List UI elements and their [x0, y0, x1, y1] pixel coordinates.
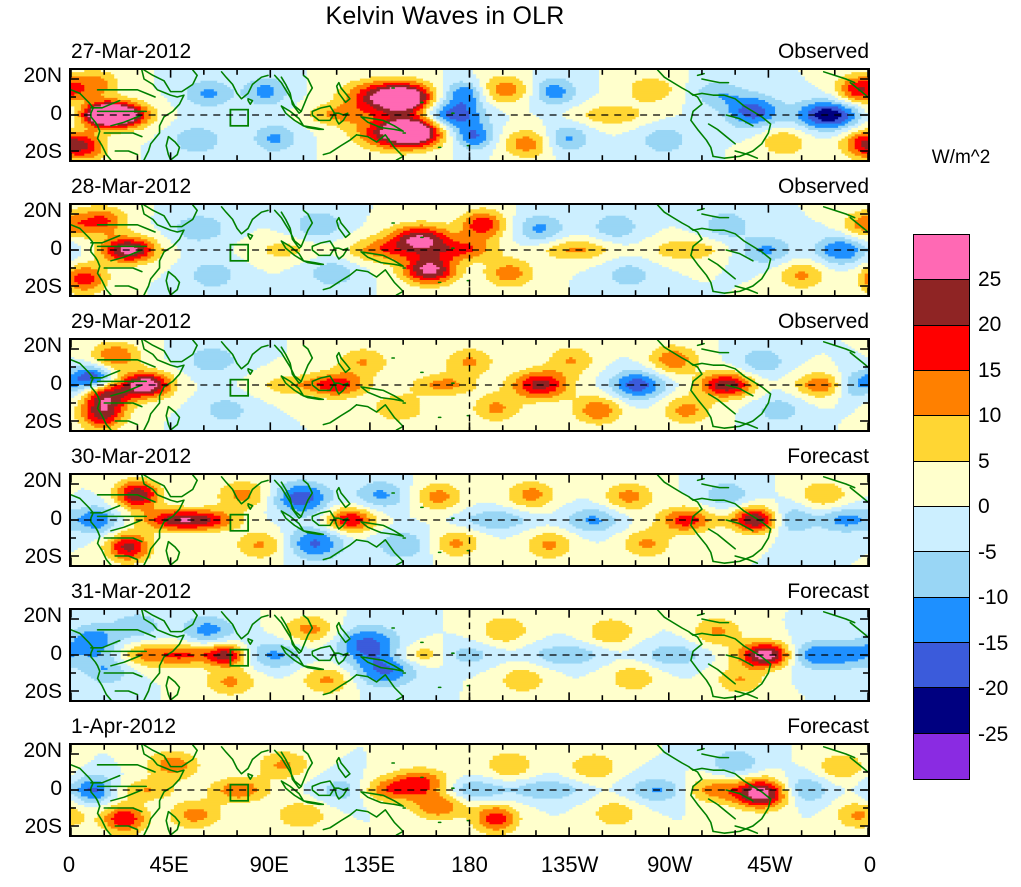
colorbar-band: [914, 507, 969, 552]
y-axis-tick-label: 0: [2, 507, 62, 531]
colorbar-band: [914, 371, 969, 416]
colorbar-tick-label: -5: [978, 541, 997, 565]
panel-date-label: 1-Apr-2012: [71, 715, 176, 739]
colorbar-tick-label: 25: [978, 268, 1001, 292]
colorbar-tick-label: -25: [978, 723, 1008, 747]
panel-plot-area: [69, 203, 870, 297]
colorbar-tick-label: -20: [978, 677, 1008, 701]
colorbar-tick-label: 20: [978, 313, 1001, 337]
x-axis-labels: 045E90E135E180135W90W45W0: [69, 852, 870, 882]
olr-contour-field: [71, 70, 868, 160]
olr-contour-field: [71, 610, 868, 700]
y-axis-tick-label: 20S: [2, 410, 62, 434]
colorbar-tick-label: -10: [978, 586, 1008, 610]
y-axis-tick-label: 0: [2, 777, 62, 801]
colorbar-band: [914, 280, 969, 325]
panel-date-label: 29-Mar-2012: [71, 310, 191, 334]
y-axis-tick-label: 20N: [2, 199, 62, 223]
x-axis-tick-label: 135E: [344, 852, 395, 878]
y-axis-tick-label: 20S: [2, 815, 62, 839]
colorbar-band: [914, 326, 969, 371]
x-axis-tick-label: 45W: [747, 852, 792, 878]
colorbar-band: [914, 734, 969, 779]
colorbar-band: [914, 688, 969, 733]
colorbar-band: [914, 552, 969, 597]
olr-contour-field: [71, 745, 868, 835]
x-axis-tick-label: 0: [63, 852, 75, 878]
page-title: Kelvin Waves in OLR: [0, 2, 890, 31]
panel-kind-label: Observed: [778, 175, 869, 199]
colorbar-tick-label: 15: [978, 359, 1001, 383]
y-axis-tick-label: 0: [2, 102, 62, 126]
y-axis-tick-label: 20N: [2, 469, 62, 493]
y-axis-tick-label: 20N: [2, 604, 62, 628]
x-axis-tick-label: 0: [864, 852, 876, 878]
y-axis-tick-label: 20N: [2, 334, 62, 358]
colorbar-tick-label: -15: [978, 632, 1008, 656]
panel-plot-area: [69, 608, 870, 702]
y-axis-tick-label: 0: [2, 642, 62, 666]
y-axis-tick-label: 20S: [2, 680, 62, 704]
colorbar-band: [914, 462, 969, 507]
y-axis-tick-label: 20N: [2, 64, 62, 88]
colorbar: [913, 234, 970, 780]
colorbar-band: [914, 598, 969, 643]
panel-kind-label: Forecast: [787, 445, 869, 469]
panel-kind-label: Observed: [778, 310, 869, 334]
panel-date-label: 30-Mar-2012: [71, 445, 191, 469]
colorbar-band: [914, 416, 969, 461]
panel-plot-area: [69, 68, 870, 162]
x-axis-tick-label: 180: [451, 852, 488, 878]
colorbar-units: W/m^2: [905, 147, 1017, 169]
x-axis-tick-label: 90E: [250, 852, 289, 878]
colorbar-tick-label: 0: [978, 495, 990, 519]
panel-date-label: 27-Mar-2012: [71, 40, 191, 64]
y-axis-tick-label: 20N: [2, 739, 62, 763]
colorbar-band: [914, 643, 969, 688]
panel-plot-area: [69, 338, 870, 432]
olr-contour-field: [71, 340, 868, 430]
panel-kind-label: Observed: [778, 40, 869, 64]
x-axis-tick-label: 45E: [150, 852, 189, 878]
colorbar-band: [914, 235, 969, 280]
x-axis-tick-label: 135W: [541, 852, 598, 878]
panel-kind-label: Forecast: [787, 580, 869, 604]
colorbar-tick-label: 5: [978, 450, 990, 474]
panel-date-label: 28-Mar-2012: [71, 175, 191, 199]
panel-kind-label: Forecast: [787, 715, 869, 739]
y-axis-tick-label: 0: [2, 237, 62, 261]
olr-contour-field: [71, 205, 868, 295]
panel-date-label: 31-Mar-2012: [71, 580, 191, 604]
y-axis-tick-label: 20S: [2, 275, 62, 299]
panel-plot-area: [69, 743, 870, 837]
olr-contour-field: [71, 475, 868, 565]
y-axis-tick-label: 0: [2, 372, 62, 396]
y-axis-tick-label: 20S: [2, 140, 62, 164]
colorbar-tick-label: 10: [978, 404, 1001, 428]
x-axis-tick-label: 90W: [647, 852, 692, 878]
panel-plot-area: [69, 473, 870, 567]
y-axis-tick-label: 20S: [2, 545, 62, 569]
